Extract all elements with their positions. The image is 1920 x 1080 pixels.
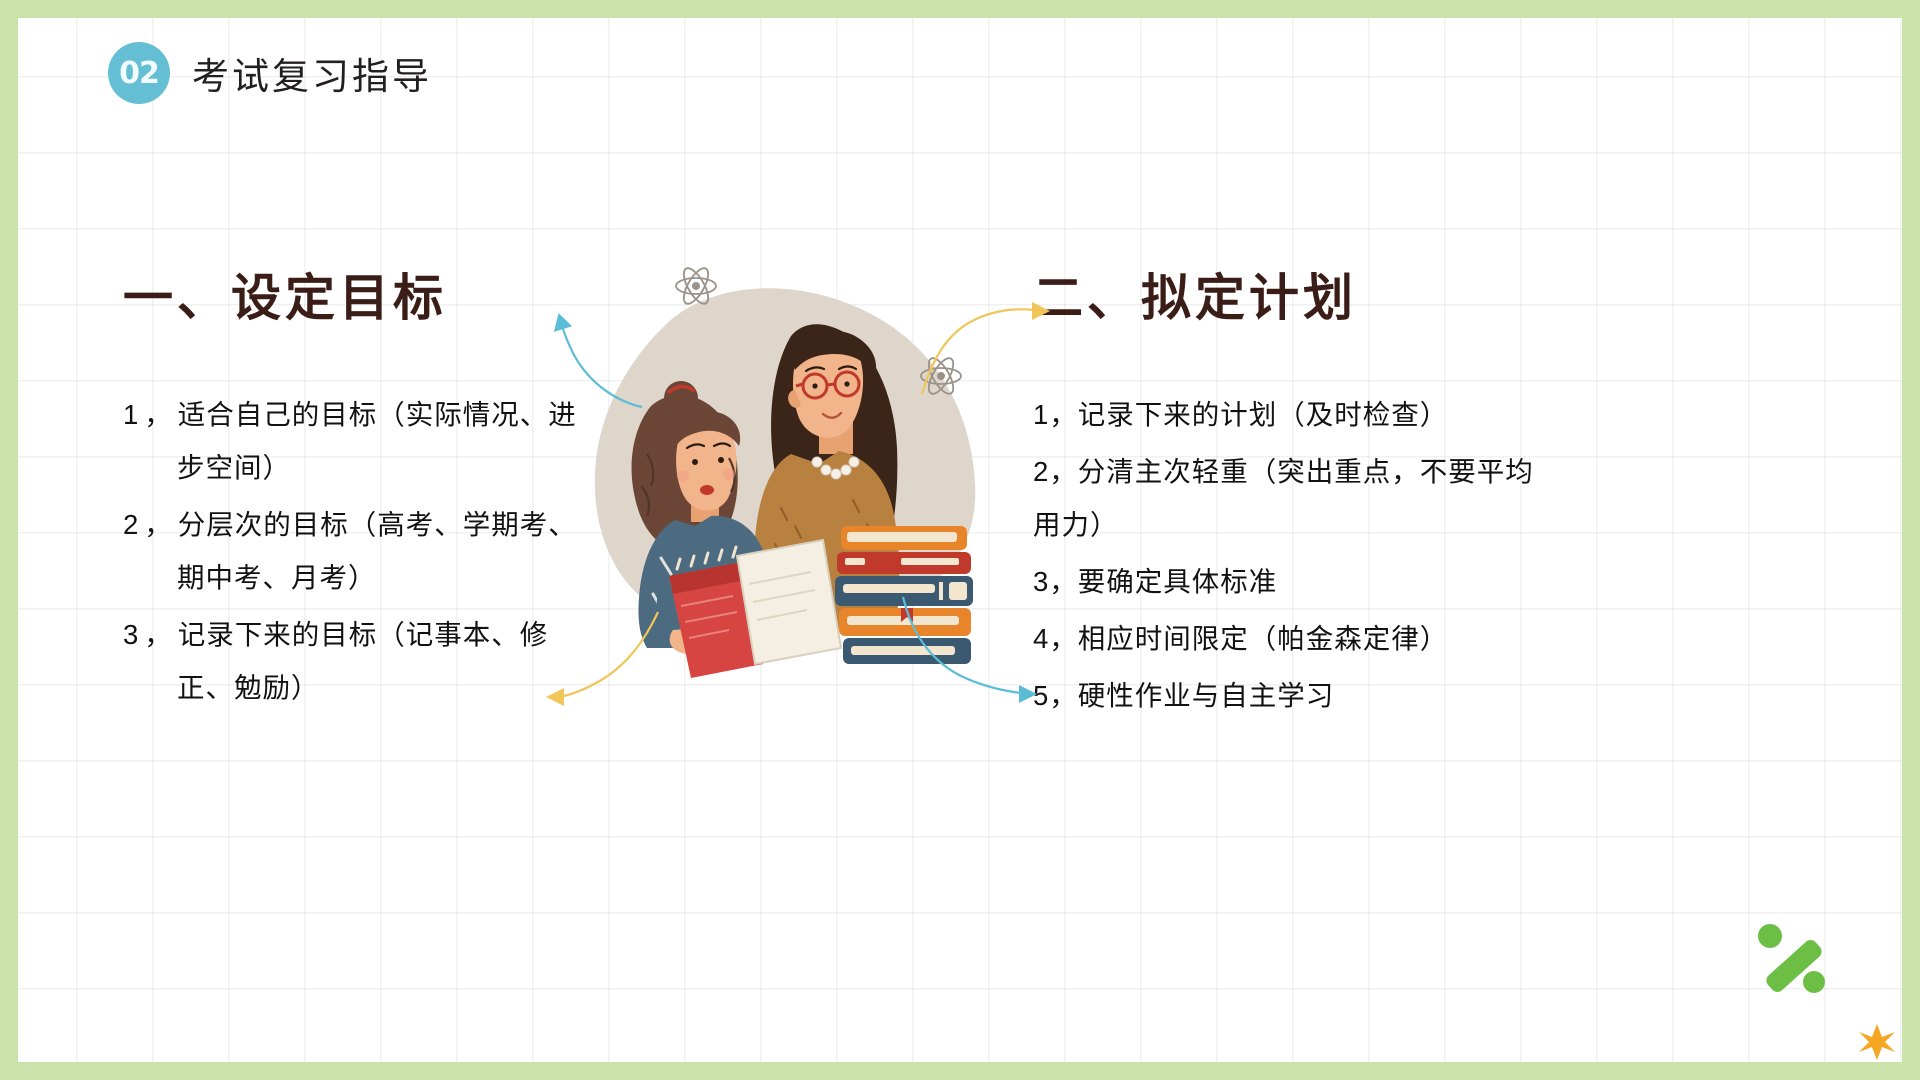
slide-page: 02 考试复习指导 一、设定目标 1，适合自己的目标（实际情况、进步空间） 2，…: [18, 18, 1902, 1062]
list-item: 4，相应时间限定（帕金森定律）: [1033, 612, 1553, 665]
list-item-text: 要确定具体标准: [1078, 566, 1278, 597]
column-make-plan: 二、拟定计划 1，记录下来的计划（及时检查） 2，分清主次轻重（突出重点，不要平…: [1033, 258, 1553, 726]
list-item-text: 适合自己的目标（实际情况、进步空间）: [177, 399, 577, 483]
list-item-text: 相应时间限定（帕金森定律）: [1078, 623, 1449, 654]
list-item-number: 1，: [123, 399, 178, 430]
atom-icon: [673, 263, 719, 309]
list-item: 2，分清主次轻重（突出重点，不要平均用力）: [1033, 445, 1553, 551]
list-item: 3，要确定具体标准: [1033, 555, 1553, 608]
list-item-text: 分层次的目标（高考、学期考、期中考、月考）: [177, 509, 577, 593]
list-item-number: 2，: [123, 509, 178, 540]
list-item: 1，记录下来的计划（及时检查）: [1033, 388, 1553, 441]
list-item-text: 分清主次轻重（突出重点，不要平均用力）: [1033, 456, 1534, 540]
list-item-number: 2，: [1033, 456, 1078, 487]
list-item: 5，硬性作业与自主学习: [1033, 669, 1553, 722]
arrow-lower-right-icon: [893, 593, 1053, 713]
spark-icon: [1856, 1022, 1898, 1062]
bullet-list-right: 1，记录下来的计划（及时检查） 2，分清主次轻重（突出重点，不要平均用力） 3，…: [1033, 388, 1553, 722]
brand-logo: [1748, 914, 1844, 1010]
arrow-to-right-heading-icon: [898, 268, 1058, 398]
paper-sheet: [737, 540, 841, 664]
list-item-number: 3，: [123, 619, 178, 650]
list-item-text: 记录下来的目标（记事本、修正、勉励）: [177, 619, 548, 703]
arrow-lower-left-icon: [538, 608, 668, 718]
list-item-number: 1，: [1033, 399, 1078, 430]
list-item-text: 记录下来的计划（及时检查）: [1078, 399, 1449, 430]
arrow-to-left-heading-icon: [518, 303, 648, 423]
section-number-badge: 02: [108, 42, 170, 104]
list-item-text: 硬性作业与自主学习: [1078, 680, 1335, 711]
slide-root: 02 考试复习指导 一、设定目标 1，适合自己的目标（实际情况、进步空间） 2，…: [0, 0, 1920, 1080]
slide-header: 02 考试复习指导: [108, 42, 432, 104]
page-title: 考试复习指导: [192, 46, 432, 100]
column-heading-right: 二、拟定计划: [1033, 258, 1553, 330]
